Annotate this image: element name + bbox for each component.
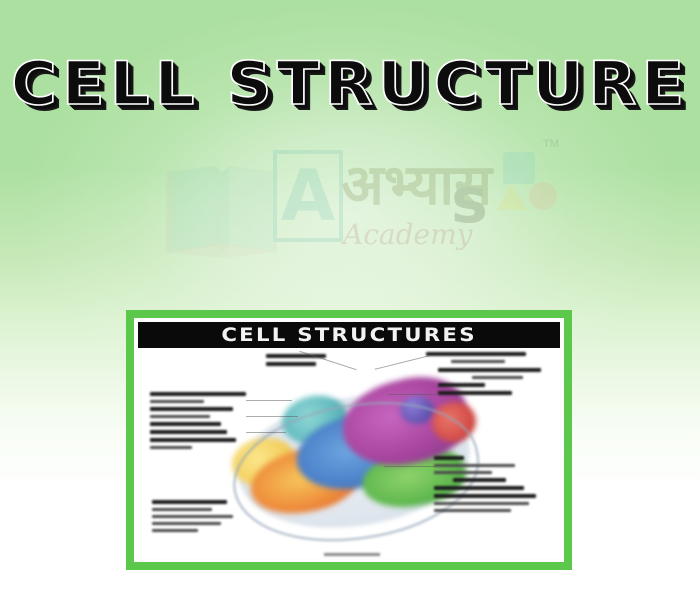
label-group-right-lower xyxy=(434,456,550,516)
page-title-container: CELL STRUCTURE xyxy=(0,52,700,116)
label-group-bottom-left xyxy=(152,500,248,536)
triangle-shape-icon xyxy=(497,184,527,210)
label-group-top-right xyxy=(426,352,530,367)
poster-green-frame: CELL STRUCTURES xyxy=(126,310,572,570)
page-title: CELL STRUCTURE xyxy=(11,52,689,116)
label-group-left xyxy=(150,392,246,453)
leader-line xyxy=(246,416,298,417)
watermark-logo: A अभ्यास s Academy TM xyxy=(155,148,555,283)
square-shape-icon xyxy=(503,152,535,184)
logo-decorative-shapes xyxy=(495,142,565,216)
trademark-symbol: TM xyxy=(543,138,559,150)
label-group-top-left xyxy=(266,354,336,370)
poster-header-title: CELL STRUCTURES xyxy=(221,325,476,345)
poster-body xyxy=(138,348,560,558)
poster-header-bar: CELL STRUCTURES xyxy=(138,322,560,348)
label-group-right-upper xyxy=(438,368,550,399)
leader-line xyxy=(384,466,436,467)
poster-credit-text xyxy=(324,553,380,556)
logo-letter-a: A xyxy=(281,161,335,231)
slide-page: CELL STRUCTURE A अभ्यास s Academy TM CEL… xyxy=(0,0,700,600)
open-book-icon xyxy=(163,162,281,258)
leader-line xyxy=(246,432,286,433)
poster-image: CELL STRUCTURES xyxy=(134,318,564,562)
logo-a-box: A xyxy=(273,150,343,242)
logo-subtitle: Academy xyxy=(343,220,472,250)
leader-line xyxy=(388,394,436,395)
leader-line xyxy=(246,400,292,401)
circle-shape-icon xyxy=(529,182,557,210)
